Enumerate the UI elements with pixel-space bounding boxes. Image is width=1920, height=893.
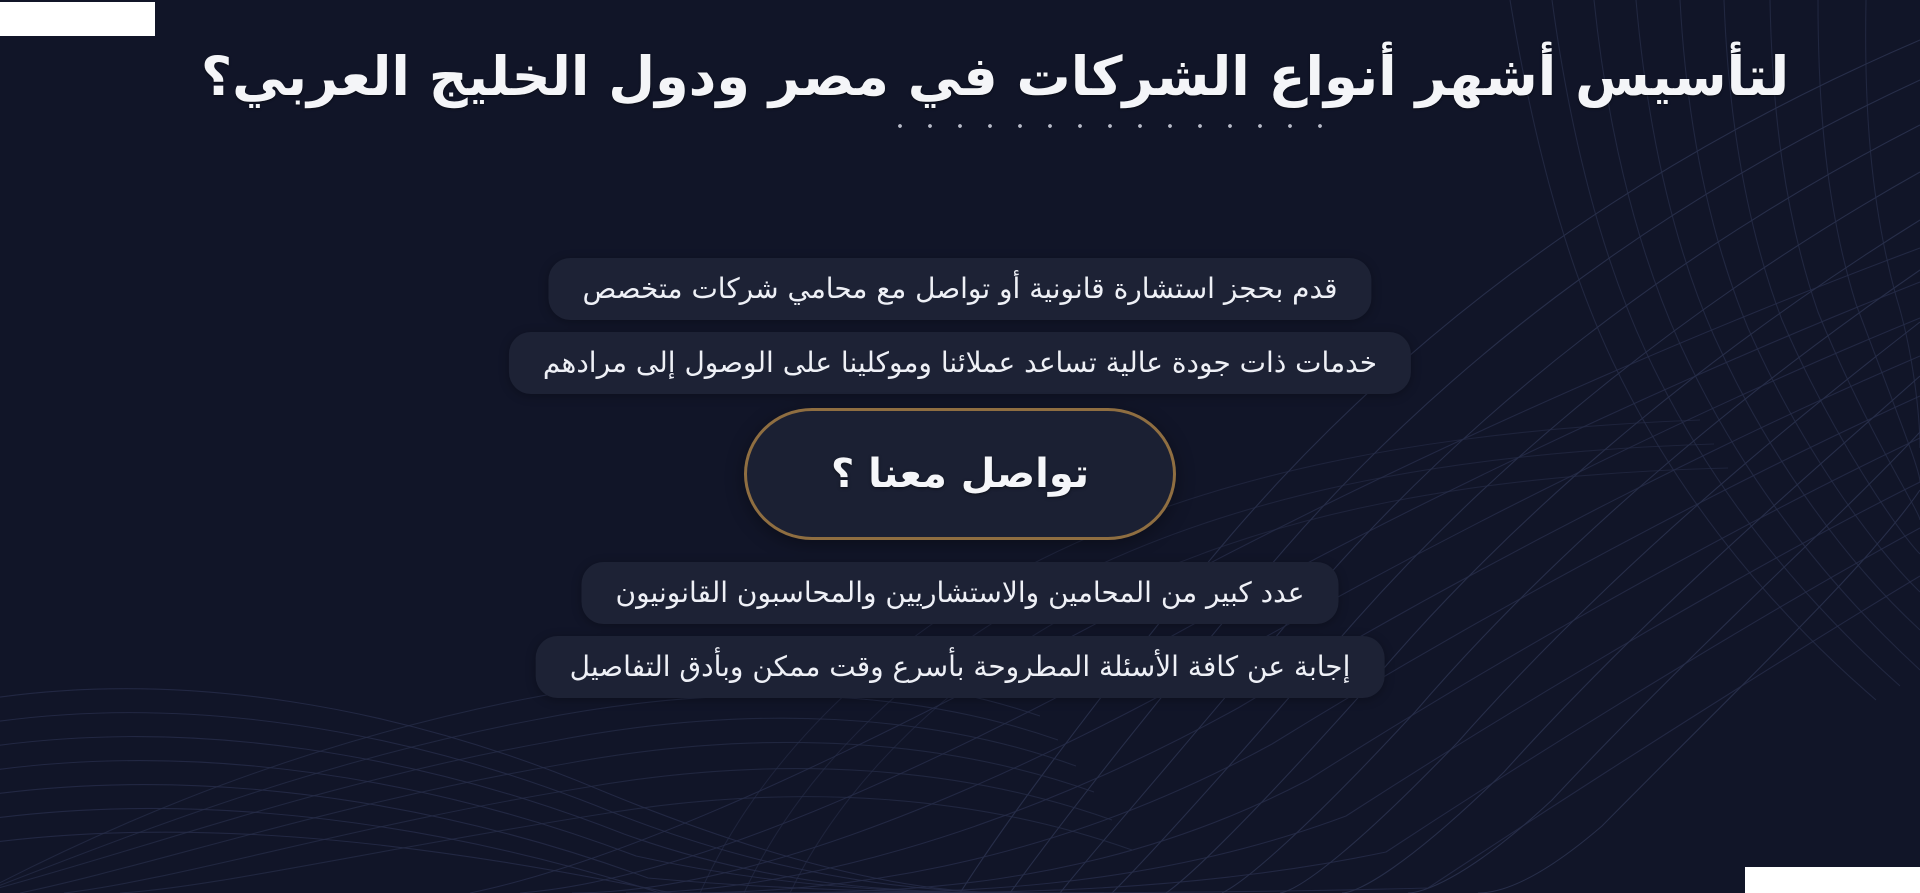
headline-block: لتأسيس أشهر أنواع الشركات في مصر ودول ال…	[0, 44, 1920, 130]
page-title: لتأسيس أشهر أنواع الشركات في مصر ودول ال…	[0, 44, 1920, 110]
feature-pill-fast-answers[interactable]: إجابة عن كافة الأسئلة المطروحة بأسرع وقت…	[536, 636, 1385, 698]
contact-us-button-label: تواصل معنا ؟	[831, 454, 1089, 494]
hero-section: لتأسيس أشهر أنواع الشركات في مصر ودول ال…	[0, 0, 1920, 893]
hero-content: لتأسيس أشهر أنواع الشركات في مصر ودول ال…	[0, 0, 1920, 893]
contact-us-button[interactable]: تواصل معنا ؟	[744, 408, 1176, 540]
feature-pill-team-size[interactable]: عدد كبير من المحامين والاستشاريين والمحا…	[582, 562, 1339, 624]
feature-pill-consultation[interactable]: قدم بحجز استشارة قانونية أو تواصل مع محا…	[548, 258, 1371, 320]
headline-dotted-underline	[880, 122, 1340, 130]
feature-pill-quality-services[interactable]: خدمات ذات جودة عالية تساعد عملائنا وموكل…	[509, 332, 1411, 394]
